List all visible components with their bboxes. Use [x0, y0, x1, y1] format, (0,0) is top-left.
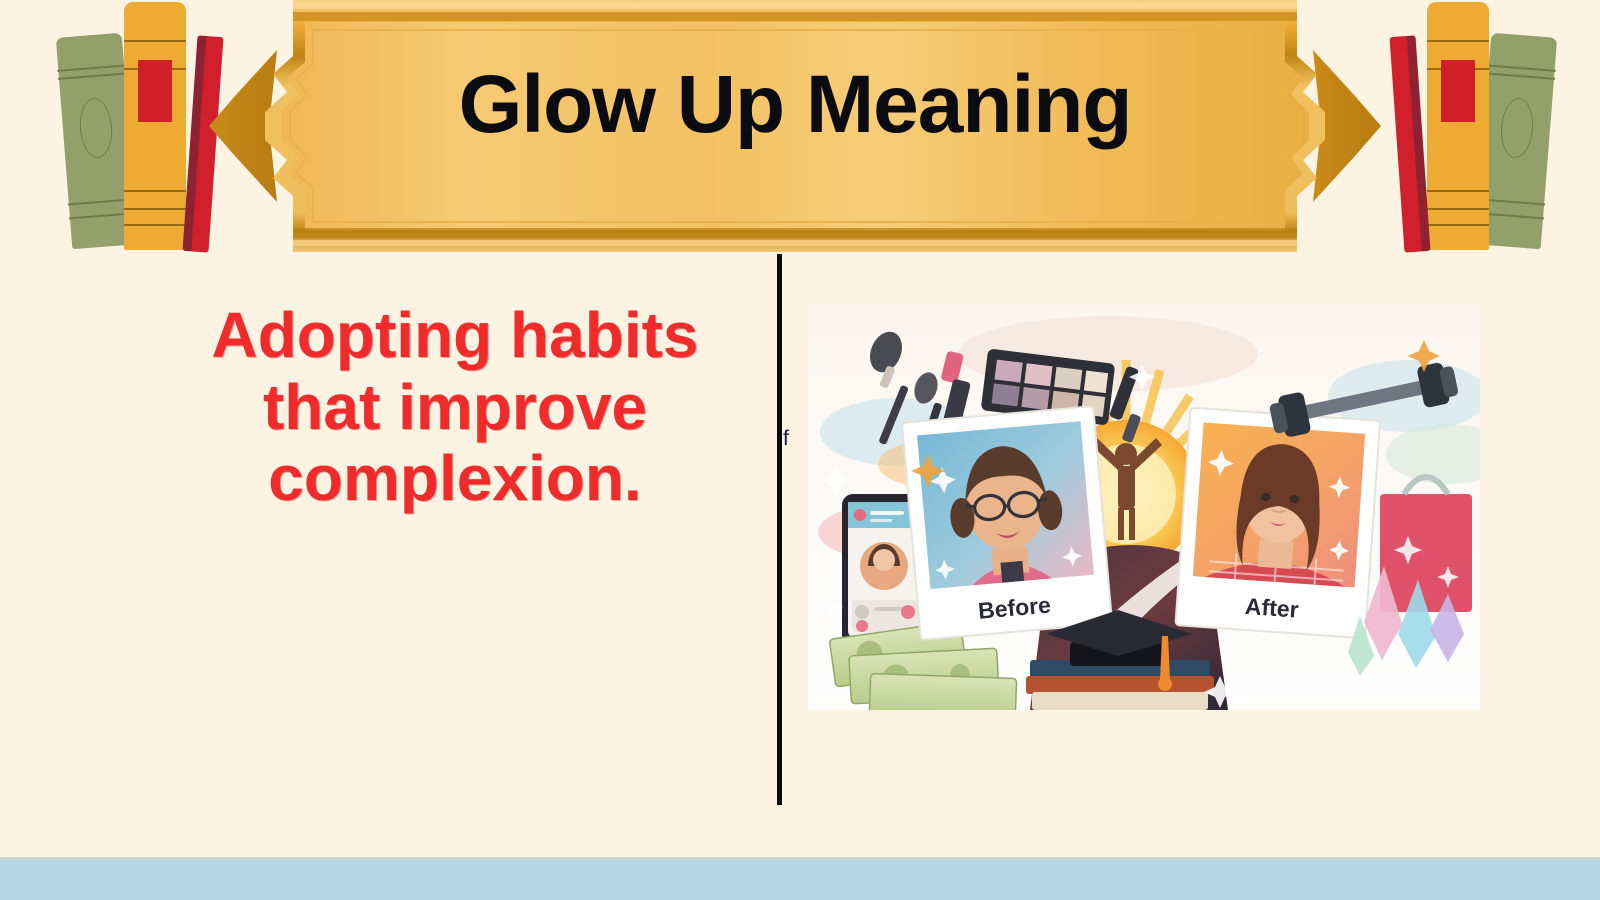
- vertical-divider: [777, 254, 782, 805]
- shopping-bag-icon: [1380, 477, 1472, 612]
- red-book-icon: [1389, 35, 1430, 252]
- page-title: Glow Up Meaning: [205, 58, 1385, 152]
- title-banner: Glow Up Meaning: [205, 0, 1385, 252]
- after-polaroid: After: [1175, 408, 1380, 639]
- body-text: Adopting habits that improve complexion.: [160, 300, 750, 515]
- orange-book-icon: [124, 2, 186, 250]
- stray-character: f: [783, 427, 789, 451]
- bottom-bar: [0, 860, 1600, 900]
- after-label: After: [1244, 593, 1299, 623]
- book-stack-icon: [1026, 660, 1214, 710]
- glow-up-collage-image: Before: [808, 304, 1480, 710]
- collage-artwork-icon: Before: [808, 304, 1480, 710]
- orange-book-icon: [1427, 2, 1489, 250]
- before-polaroid: Before: [902, 406, 1112, 640]
- slide-canvas: Glow Up Meaning f Adopting habits that i…: [0, 0, 1600, 900]
